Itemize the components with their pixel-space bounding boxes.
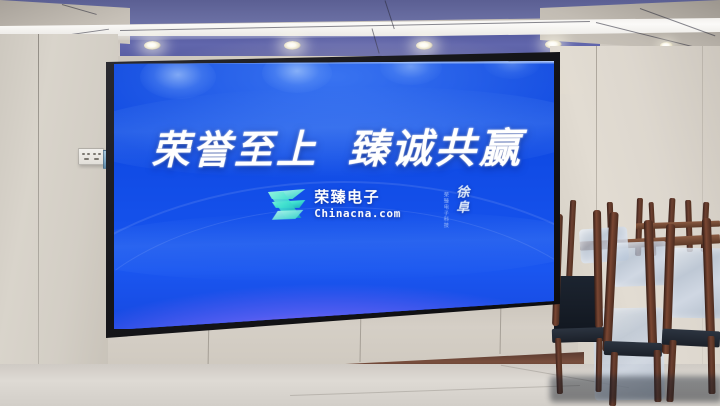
slogan-left: 荣誉至上 bbox=[151, 127, 318, 172]
logo-text-block: 荣臻电子 Chinacna.com bbox=[314, 189, 401, 218]
furniture-group-right bbox=[550, 180, 720, 406]
company-logo: 荣臻电子 Chinacna.com bbox=[119, 187, 554, 222]
led-display[interactable]: 荣誉至上臻诚共赢 bbox=[104, 52, 562, 338]
chinacna-arrow-logo-icon bbox=[266, 187, 307, 221]
ceiling-downlight bbox=[144, 41, 161, 50]
outlet-slot bbox=[82, 153, 85, 155]
display-screen[interactable]: 荣誉至上臻诚共赢 bbox=[112, 61, 554, 329]
outlet-slot bbox=[94, 158, 99, 160]
outlet-slot bbox=[93, 153, 96, 155]
logo-company-en: Chinacna.com bbox=[314, 207, 401, 218]
slide-slogan: 荣誉至上臻诚共赢 bbox=[119, 115, 554, 176]
logo-company-cn: 荣臻电子 bbox=[314, 189, 401, 204]
slogan-right: 臻诚共赢 bbox=[348, 125, 523, 172]
ceiling-downlight bbox=[284, 41, 301, 50]
outlet-slot bbox=[87, 153, 90, 155]
outlet-slot bbox=[84, 158, 89, 160]
chair-leg bbox=[566, 200, 576, 286]
wall-panel-seam bbox=[38, 34, 39, 406]
slide-signature: 荣臻电子科技 徐阜 bbox=[443, 185, 472, 229]
outlet-slot bbox=[98, 153, 101, 155]
wall-outlet-upper[interactable] bbox=[78, 148, 104, 165]
slide-content: 荣誉至上臻诚共赢 bbox=[119, 61, 554, 329]
chair-shadow-mass bbox=[550, 376, 720, 402]
signature-big-text: 徐阜 bbox=[452, 185, 471, 216]
plastic-wrapping bbox=[611, 241, 669, 287]
ceiling-downlight bbox=[416, 41, 433, 50]
signature-small-text: 荣臻电子科技 bbox=[443, 185, 450, 229]
screenshot-root: 荣誉至上臻诚共赢 bbox=[0, 0, 720, 406]
wall-left bbox=[0, 34, 118, 406]
